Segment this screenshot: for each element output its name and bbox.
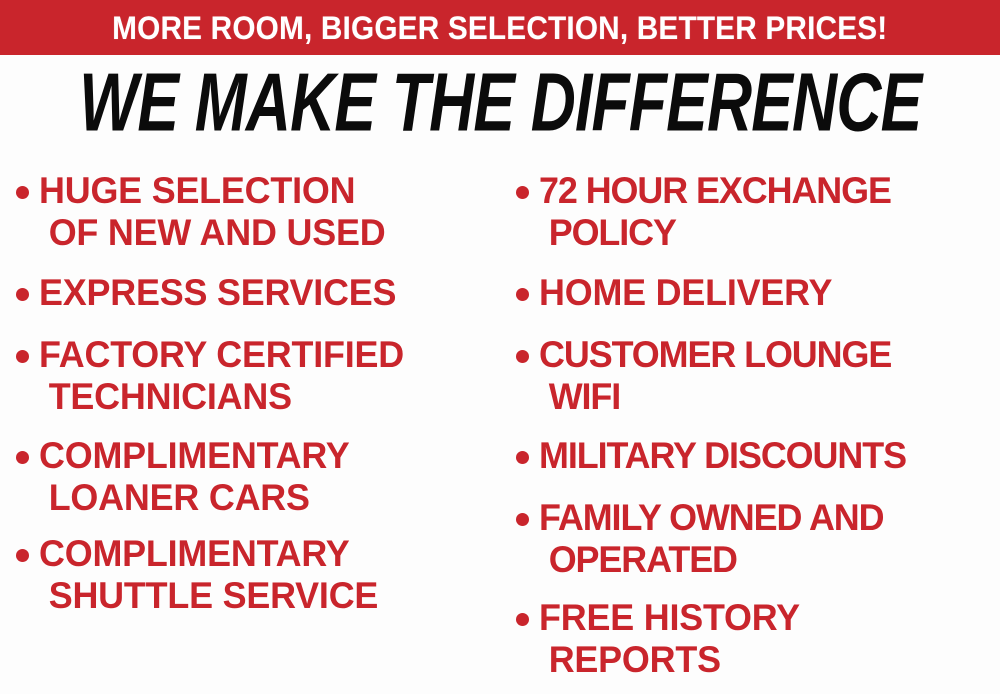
list-item-line-2: OPERATED <box>539 539 986 581</box>
bullet-dot-icon <box>16 549 29 562</box>
list-item-line-1: HOME DELIVERY <box>539 272 832 313</box>
list-item-label: COMPLIMENTARYLOANER CARS <box>39 435 473 519</box>
list-item-label: CUSTOMER LOUNGEWIFI <box>539 334 986 418</box>
list-item-line-2: OF NEW AND USED <box>39 212 473 254</box>
list-item-line-2: TECHNICIANS <box>39 376 473 418</box>
list-item-line-1: FAMILY OWNED AND <box>539 497 884 538</box>
list-item-line-1: COMPLIMENTARY <box>39 435 350 476</box>
list-item: HUGE SELECTIONOF NEW AND USED <box>16 170 486 254</box>
list-item: EXPRESS SERVICES <box>16 272 486 314</box>
list-item-label: COMPLIMENTARYSHUTTLE SERVICE <box>39 533 473 617</box>
benefits-column-left: HUGE SELECTIONOF NEW AND USED EXPRESS SE… <box>16 152 486 694</box>
bullet-dot-icon <box>516 350 529 363</box>
list-item-line-1: EXPRESS SERVICES <box>39 272 396 313</box>
bullet-dot-icon <box>16 288 29 301</box>
list-item: COMPLIMENTARYSHUTTLE SERVICE <box>16 533 486 617</box>
list-item-label: EXPRESS SERVICES <box>39 272 473 314</box>
list-item: FAMILY OWNED ANDOPERATED <box>516 497 1000 581</box>
bullet-dot-icon <box>516 513 529 526</box>
list-item-line-1: HUGE SELECTION <box>39 170 355 211</box>
bullet-dot-icon <box>516 451 529 464</box>
list-item: HOME DELIVERY <box>516 272 1000 314</box>
list-item-label: FACTORY CERTIFIEDTECHNICIANS <box>39 334 473 418</box>
list-item-line-2: SHUTTLE SERVICE <box>39 575 473 617</box>
list-item-label: MILITARY DISCOUNTS <box>539 435 986 477</box>
list-item-label: 72 HOUR EXCHANGEPOLICY <box>539 170 986 254</box>
headline-area: WE MAKE THE DIFFERENCE <box>0 58 1000 146</box>
list-item-line-1: 72 HOUR EXCHANGE <box>539 170 891 211</box>
list-item: FACTORY CERTIFIEDTECHNICIANS <box>16 334 486 418</box>
list-item: CUSTOMER LOUNGEWIFI <box>516 334 1000 418</box>
benefits-columns: HUGE SELECTIONOF NEW AND USED EXPRESS SE… <box>0 152 1000 694</box>
page-title: WE MAKE THE DIFFERENCE <box>79 60 921 145</box>
bullet-dot-icon <box>516 613 529 626</box>
list-item-line-2: WIFI <box>539 376 986 418</box>
list-item: COMPLIMENTARYLOANER CARS <box>16 435 486 519</box>
list-item-line-1: MILITARY DISCOUNTS <box>539 435 906 476</box>
top-banner: MORE ROOM, BIGGER SELECTION, BETTER PRIC… <box>0 0 1000 55</box>
list-item-line-2: LOANER CARS <box>39 477 473 519</box>
bullet-dot-icon <box>16 186 29 199</box>
list-item-line-1: COMPLIMENTARY <box>39 533 350 574</box>
list-item-line-1: CUSTOMER LOUNGE <box>539 334 891 375</box>
promo-poster: MORE ROOM, BIGGER SELECTION, BETTER PRIC… <box>0 0 1000 694</box>
banner-headline-text: MORE ROOM, BIGGER SELECTION, BETTER PRIC… <box>112 11 887 45</box>
list-item-line-2: REPORTS <box>539 639 986 681</box>
list-item: MILITARY DISCOUNTS <box>516 435 1000 477</box>
bullet-dot-icon <box>16 451 29 464</box>
list-item-label: HOME DELIVERY <box>539 272 986 314</box>
list-item: 72 HOUR EXCHANGEPOLICY <box>516 170 1000 254</box>
list-item-label: FREE HISTORYREPORTS <box>539 597 986 681</box>
benefits-column-right: 72 HOUR EXCHANGEPOLICY HOME DELIVERY CUS… <box>516 152 1000 694</box>
list-item-line-2: POLICY <box>539 212 986 254</box>
list-item-line-1: FREE HISTORY <box>539 597 800 638</box>
list-item: FREE HISTORYREPORTS <box>516 597 1000 681</box>
list-item-label: HUGE SELECTIONOF NEW AND USED <box>39 170 473 254</box>
bullet-dot-icon <box>516 288 529 301</box>
list-item-line-1: FACTORY CERTIFIED <box>39 334 404 375</box>
bullet-dot-icon <box>516 186 529 199</box>
list-item-label: FAMILY OWNED ANDOPERATED <box>539 497 986 581</box>
bullet-dot-icon <box>16 350 29 363</box>
